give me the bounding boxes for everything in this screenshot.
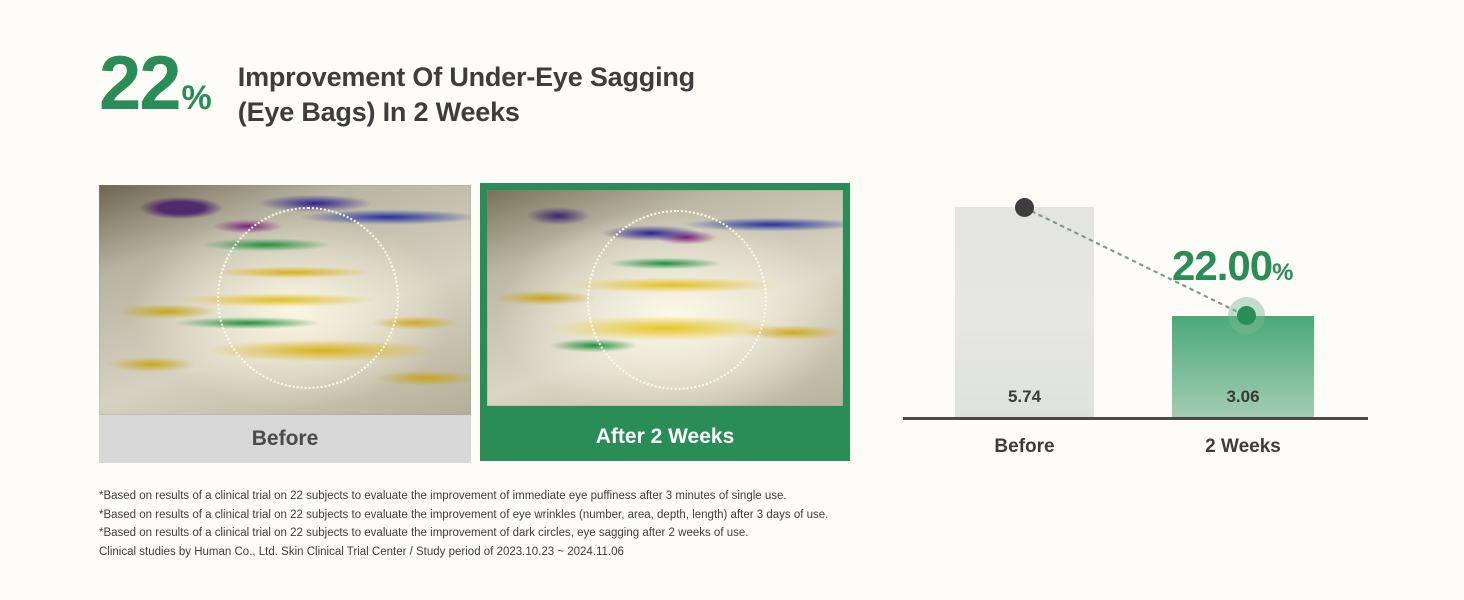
footnote-study-credit: Clinical studies by Human Co., Ltd. Skin…	[99, 543, 828, 562]
bar-value-2-weeks: 3.06	[1172, 387, 1314, 407]
before-skin-analysis-image	[99, 185, 471, 415]
stat-percent-symbol: %	[182, 81, 212, 115]
footnote-line: *Based on results of a clinical trial on…	[99, 524, 828, 543]
after-panel: After 2 Weeks	[480, 183, 850, 461]
bar-value-before: 5.74	[955, 387, 1094, 407]
page-title: Improvement Of Under-Eye Sagging (Eye Ba…	[238, 60, 695, 129]
chart-baseline-axis	[903, 417, 1368, 420]
after-photo-frame	[480, 183, 850, 413]
footnote-line: *Based on results of a clinical trial on…	[99, 487, 828, 506]
bar-before: 5.74	[955, 207, 1094, 417]
roi-circle-icon	[217, 207, 399, 389]
axis-label-2-weeks: 2 Weeks	[1172, 436, 1314, 458]
after-skin-analysis-image	[487, 190, 843, 406]
footnotes: *Based on results of a clinical trial on…	[99, 487, 828, 562]
improvement-value: 22.00	[1172, 242, 1272, 289]
page-title-line-2: (Eye Bags) In 2 Weeks	[238, 95, 695, 130]
before-photo-frame	[99, 185, 471, 415]
bar-chart: 5.74 3.06 22.00% Before 2 Weeks	[880, 180, 1380, 470]
stat-number: 22	[99, 46, 180, 122]
axis-label-before: Before	[955, 436, 1094, 458]
before-caption: Before	[99, 415, 471, 463]
improvement-callout: 22.00%	[1172, 242, 1292, 290]
marker-dot-before	[1015, 198, 1034, 217]
after-caption: After 2 Weeks	[480, 413, 850, 461]
stat-highlight: 22 %	[99, 46, 212, 122]
page-title-line-1: Improvement Of Under-Eye Sagging	[238, 60, 695, 95]
roi-circle-icon	[587, 210, 767, 390]
improvement-percent-symbol: %	[1272, 259, 1292, 286]
footnote-line: *Based on results of a clinical trial on…	[99, 506, 828, 525]
headline: 22 % Improvement Of Under-Eye Sagging (E…	[99, 46, 695, 129]
marker-dot-2-weeks	[1237, 306, 1256, 325]
before-panel: Before	[99, 185, 471, 463]
infographic-root: 22 % Improvement Of Under-Eye Sagging (E…	[0, 0, 1464, 600]
